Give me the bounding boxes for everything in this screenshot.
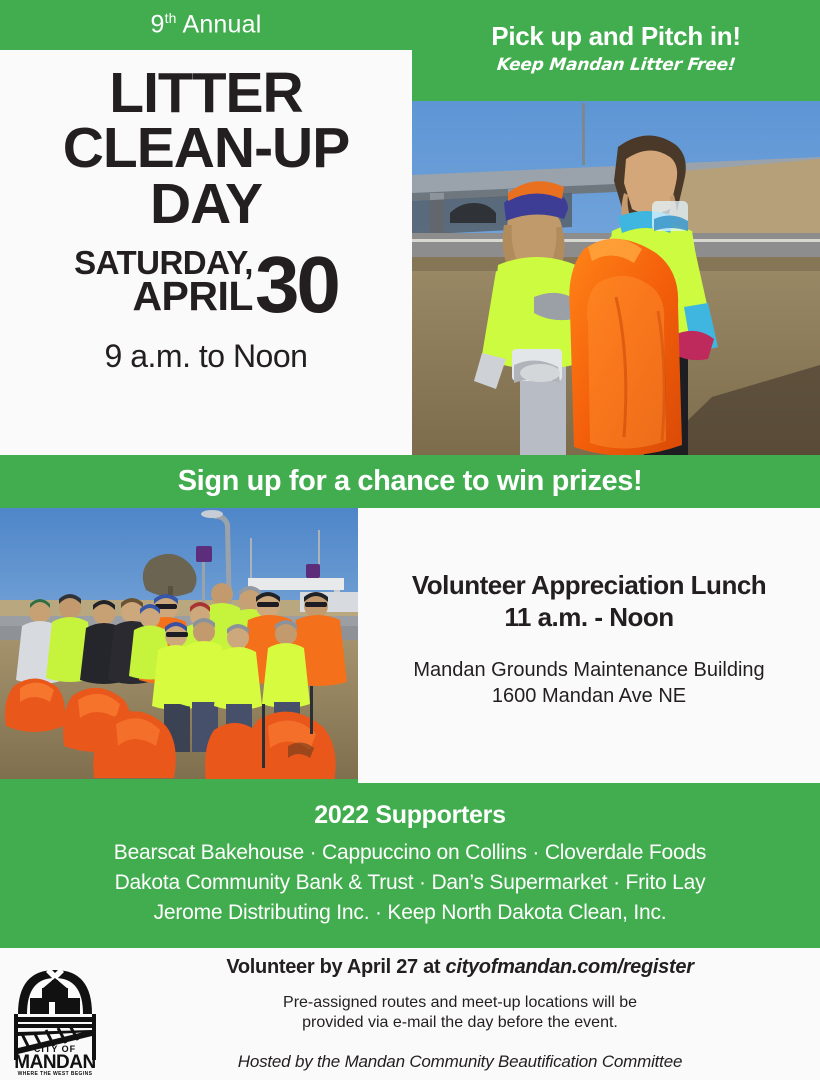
tagline-main: Pick up and Pitch in! bbox=[491, 23, 740, 49]
volunteers-pair-photo-art bbox=[412, 97, 820, 455]
event-date: SATURDAY, APRIL 30 bbox=[0, 248, 412, 316]
register-prefix: Volunteer by April 27 at bbox=[226, 956, 445, 978]
event-title-line2: CLEAN-UP bbox=[63, 121, 350, 176]
lunch-heading-line2: 11 a.m. - Noon bbox=[504, 602, 673, 632]
event-title-line1: LITTER bbox=[63, 66, 350, 121]
register-url[interactable]: cityofmandan.com/register bbox=[446, 956, 694, 978]
lunch-heading-line1: Volunteer Appreciation Lunch bbox=[412, 570, 766, 600]
supporters-row: Jerome Distributing Inc. · Keep North Da… bbox=[154, 898, 667, 928]
lunch-info: Volunteer Appreciation Lunch 11 a.m. - N… bbox=[358, 508, 820, 783]
title-panel: LITTER CLEAN-UP DAY SATURDAY, APRIL 30 9… bbox=[0, 50, 412, 455]
event-title: LITTER CLEAN-UP DAY bbox=[63, 66, 350, 232]
event-date-words: SATURDAY, APRIL bbox=[74, 248, 253, 316]
host-line: Hosted by the Mandan Community Beautific… bbox=[110, 1052, 810, 1072]
event-day-number: 30 bbox=[255, 254, 338, 316]
event-title-line3: DAY bbox=[63, 177, 350, 232]
logo-name: MANDAN bbox=[14, 1052, 95, 1073]
lunch-venue: Mandan Grounds Maintenance Building bbox=[413, 657, 764, 683]
tagline-script: Keep Mandan Litter Free! bbox=[496, 57, 736, 74]
volunteer-group-photo bbox=[0, 508, 358, 783]
volunteers-pair-photo bbox=[412, 97, 820, 455]
annual-suffix: th bbox=[165, 10, 177, 26]
route-note-line2: provided via e-mail the day before the e… bbox=[110, 1013, 810, 1033]
event-month: APRIL bbox=[132, 278, 253, 316]
supporters-section: 2022 Supporters Bearscat Bakehouse · Cap… bbox=[0, 783, 820, 948]
annual-banner: 9th Annual bbox=[0, 0, 412, 50]
city-of-mandan-logo: CITY OF MANDAN WHERE THE WEST BEGINS bbox=[8, 952, 103, 1076]
tagline-banner: Pick up and Pitch in! Keep Mandan Litter… bbox=[412, 0, 820, 97]
lunch-street: 1600 Mandan Ave NE bbox=[413, 683, 764, 709]
annual-number: 9 bbox=[150, 11, 164, 39]
supporters-row: Dakota Community Bank & Trust · Dan’s Su… bbox=[115, 868, 706, 898]
route-note-line1: Pre-assigned routes and meet-up location… bbox=[110, 993, 810, 1013]
poster: 9th Annual Pick up and Pitch in! Keep Ma… bbox=[0, 0, 820, 1080]
prize-banner-text: Sign up for a chance to win prizes! bbox=[178, 465, 643, 498]
event-hours: 9 a.m. to Noon bbox=[105, 338, 308, 375]
footer: CITY OF MANDAN WHERE THE WEST BEGINS Vol… bbox=[0, 948, 820, 1080]
footer-text: Volunteer by April 27 at cityofmandan.co… bbox=[110, 956, 810, 1072]
lunch-heading: Volunteer Appreciation Lunch 11 a.m. - N… bbox=[412, 570, 766, 633]
annual-label: 9th Annual bbox=[150, 10, 261, 39]
supporters-row: Bearscat Bakehouse · Cappuccino on Colli… bbox=[114, 838, 706, 868]
prize-banner: Sign up for a chance to win prizes! bbox=[0, 455, 820, 508]
logo-motto: WHERE THE WEST BEGINS bbox=[18, 1071, 93, 1076]
route-note: Pre-assigned routes and meet-up location… bbox=[110, 993, 810, 1034]
lunch-address: Mandan Grounds Maintenance Building 1600… bbox=[413, 657, 764, 709]
volunteer-group-photo-art bbox=[0, 508, 358, 783]
supporters-heading: 2022 Supporters bbox=[314, 801, 505, 830]
city-of-mandan-logo-art: CITY OF MANDAN WHERE THE WEST BEGINS bbox=[8, 952, 103, 1076]
register-line: Volunteer by April 27 at cityofmandan.co… bbox=[110, 956, 810, 979]
annual-word: Annual bbox=[182, 11, 261, 39]
